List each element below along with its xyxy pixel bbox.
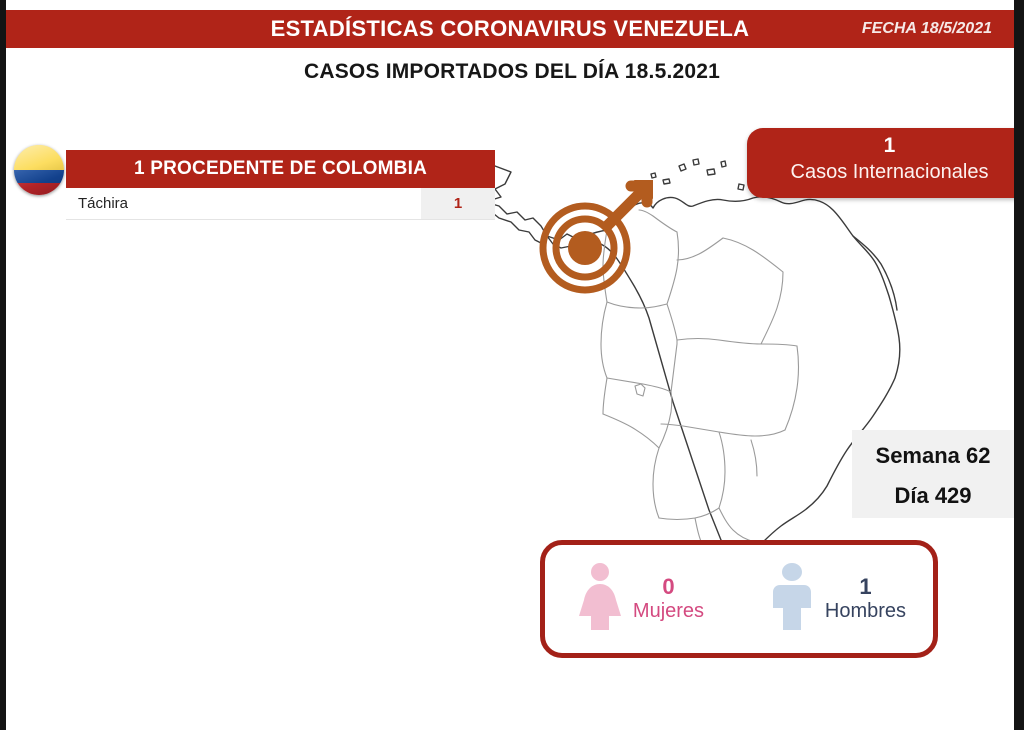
letterbox-edge-left xyxy=(0,0,6,730)
international-cases-count: 1 xyxy=(747,134,1024,158)
week-number: Semana 62 xyxy=(852,443,1014,469)
international-cases-label: Casos Internacionales xyxy=(747,158,1024,186)
women-count: 0 xyxy=(633,574,704,600)
origin-card-header: 1 PROCEDENTE DE COLOMBIA xyxy=(66,150,495,188)
letterbox-edge-right xyxy=(1014,0,1024,730)
female-figure-icon xyxy=(577,562,623,637)
gender-group-women: 0 Mujeres xyxy=(545,562,742,637)
target-arrow-marker-icon xyxy=(543,180,653,290)
men-label: Hombres xyxy=(825,600,906,624)
gender-group-men: 1 Hombres xyxy=(742,562,933,637)
origin-state-name: Táchira xyxy=(66,188,421,219)
header-banner: ESTADÍSTICAS CORONAVIRUS VENEZUELA FECHA… xyxy=(6,10,1014,48)
international-cases-badge: 1 Casos Internacionales xyxy=(747,128,1024,198)
gender-women-text: 0 Mujeres xyxy=(633,574,704,624)
origin-card-colombia: 1 PROCEDENTE DE COLOMBIA Táchira 1 xyxy=(66,150,495,220)
male-figure-icon xyxy=(769,562,815,637)
gender-breakdown-panel: 0 Mujeres 1 Hombres xyxy=(540,540,938,658)
women-label: Mujeres xyxy=(633,600,704,624)
subtitle: CASOS IMPORTADOS DEL DÍA 18.5.2021 xyxy=(0,60,1024,84)
gender-men-text: 1 Hombres xyxy=(825,574,906,624)
origin-state-count: 1 xyxy=(421,188,495,219)
banner-date: FECHA 18/5/2021 xyxy=(862,10,992,48)
table-row: Táchira 1 xyxy=(66,188,495,220)
slide-canvas: ESTADÍSTICAS CORONAVIRUS VENEZUELA FECHA… xyxy=(0,0,1024,730)
flag-gloss-overlay xyxy=(14,145,64,195)
men-count: 1 xyxy=(825,574,906,600)
colombia-flag-icon xyxy=(14,145,64,195)
week-day-box: Semana 62 Día 429 xyxy=(852,430,1014,518)
day-number: Día 429 xyxy=(852,483,1014,509)
